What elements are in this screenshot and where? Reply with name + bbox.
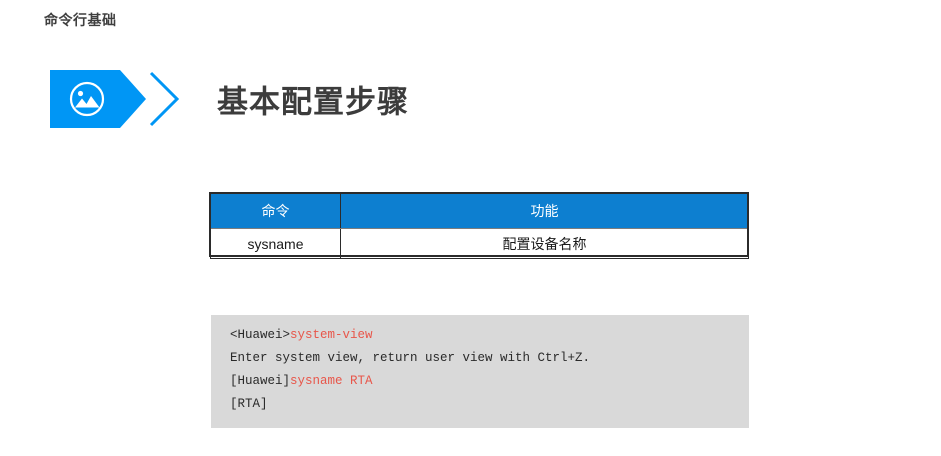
table-header-row: 命令 功能 — [211, 194, 749, 229]
breadcrumb: 命令行基础 — [44, 10, 117, 30]
cli-line: [Huawei]sysname RTA — [211, 370, 749, 393]
table-header-function: 功能 — [341, 194, 749, 229]
cli-line: [RTA] — [211, 393, 749, 416]
page-title: 基本配置步骤 — [217, 77, 409, 122]
cli-command: system-view — [290, 328, 373, 342]
table-row: sysname 配置设备名称 — [211, 229, 749, 259]
cli-prompt: [Huawei] — [230, 374, 290, 388]
table-header-command: 命令 — [211, 194, 341, 229]
table-cell-function: 配置设备名称 — [341, 229, 749, 259]
cli-prompt: <Huawei> — [230, 328, 290, 342]
cli-line: <Huawei>system-view — [211, 324, 749, 347]
command-table: 命令 功能 sysname 配置设备名称 — [210, 193, 749, 259]
cli-command: sysname RTA — [290, 374, 373, 388]
banner-chevron-shape — [50, 70, 190, 128]
cli-line: Enter system view, return user view with… — [211, 347, 749, 370]
cli-output: Enter system view, return user view with… — [230, 351, 590, 365]
cli-prompt: [RTA] — [230, 397, 268, 411]
table-cell-command: sysname — [211, 229, 341, 259]
cli-output-block: <Huawei>system-view Enter system view, r… — [211, 315, 749, 428]
section-banner: 基本配置步骤 — [50, 70, 370, 128]
